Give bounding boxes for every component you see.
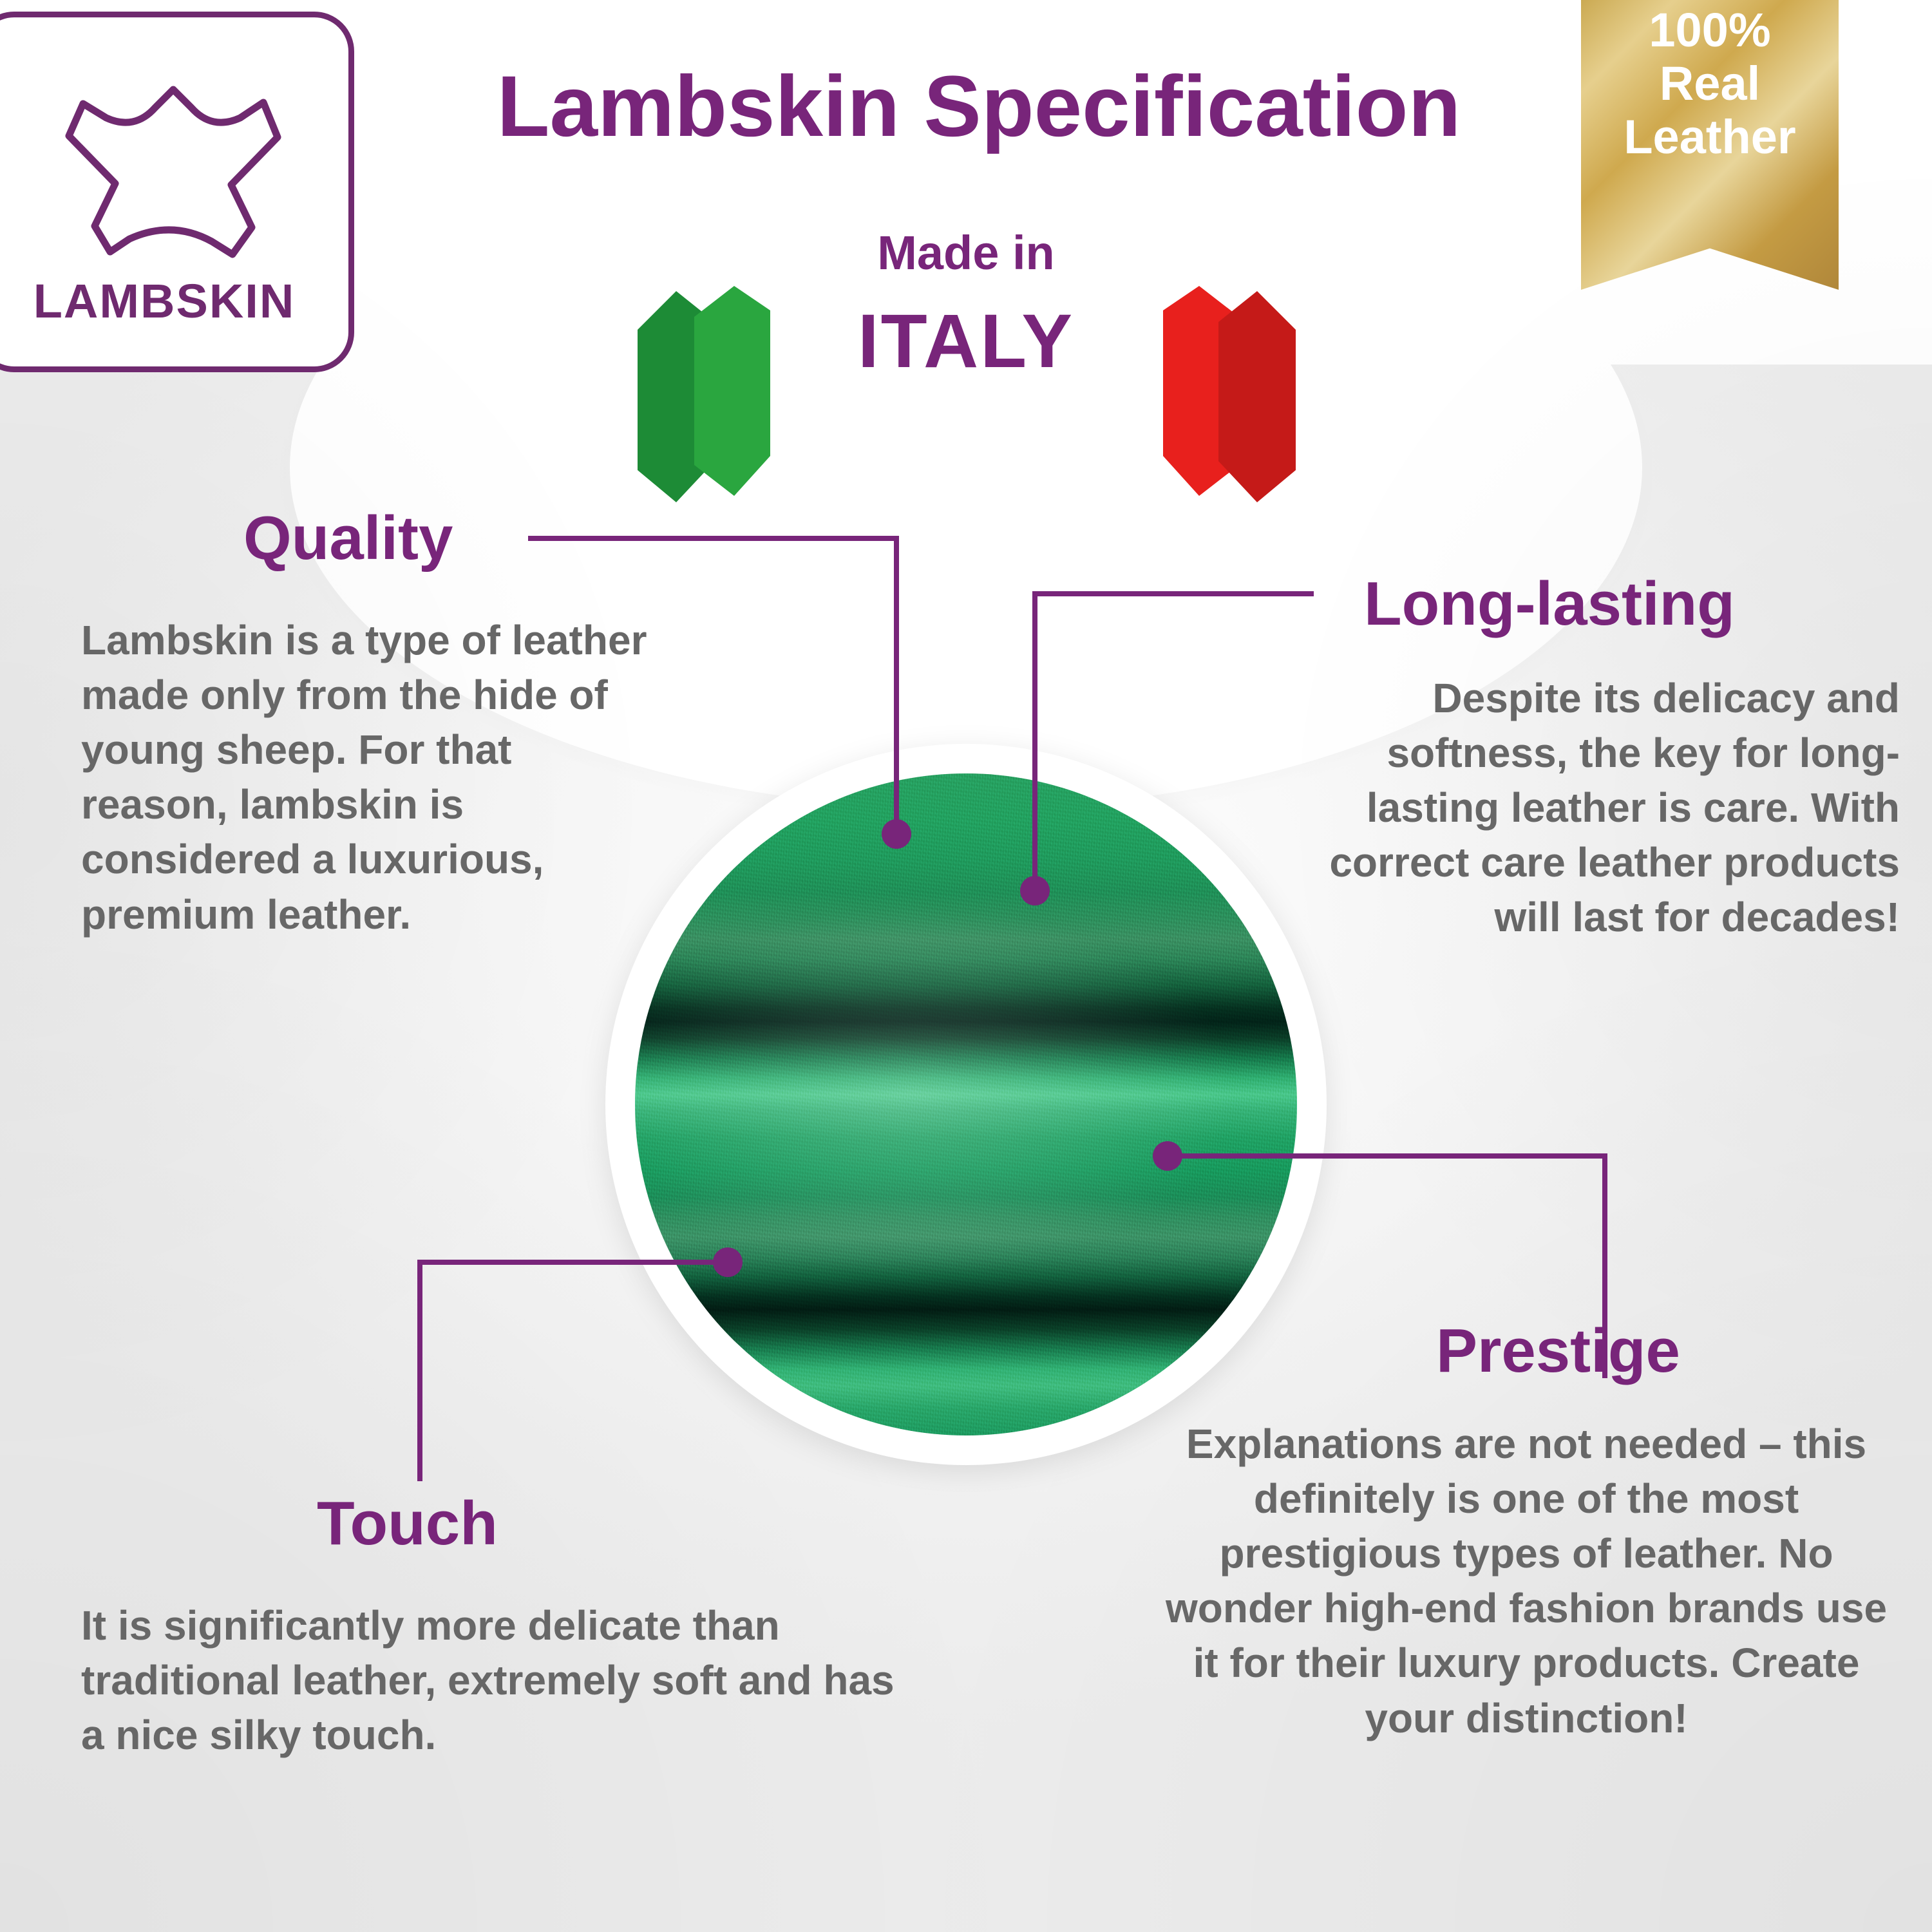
leather-photo	[635, 773, 1297, 1435]
made-in-label: Made in	[708, 225, 1224, 280]
callout-title-long-lasting: Long-lasting	[1364, 573, 1735, 635]
callout-body-touch: It is significantly more delicate than t…	[81, 1598, 912, 1763]
badge-line-3: Leather	[1624, 111, 1795, 164]
country-label: ITALY	[708, 298, 1224, 385]
infographic-canvas: LAMBSKIN Lambskin Specification Made in …	[0, 0, 1932, 1932]
real-leather-badge: 100% Real Leather	[1581, 0, 1839, 290]
page-title: Lambskin Specification	[399, 63, 1558, 151]
callout-body-long-lasting: Despite its delicacy and softness, the k…	[1298, 671, 1900, 945]
callout-body-prestige: Explanations are not needed – this defin…	[1153, 1417, 1900, 1746]
logo-card: LAMBSKIN	[0, 12, 354, 372]
badge-line-2: Real	[1660, 57, 1760, 111]
logo-wordmark: LAMBSKIN	[0, 274, 348, 328]
callout-title-touch: Touch	[317, 1493, 498, 1555]
badge-line-1: 100%	[1649, 4, 1770, 57]
callout-body-quality: Lambskin is a type of leather made only …	[81, 613, 661, 942]
callout-title-prestige: Prestige	[1436, 1320, 1680, 1382]
leather-hide-icon	[19, 64, 328, 263]
leather-sheen	[635, 773, 1297, 1435]
callout-title-quality: Quality	[243, 507, 453, 569]
